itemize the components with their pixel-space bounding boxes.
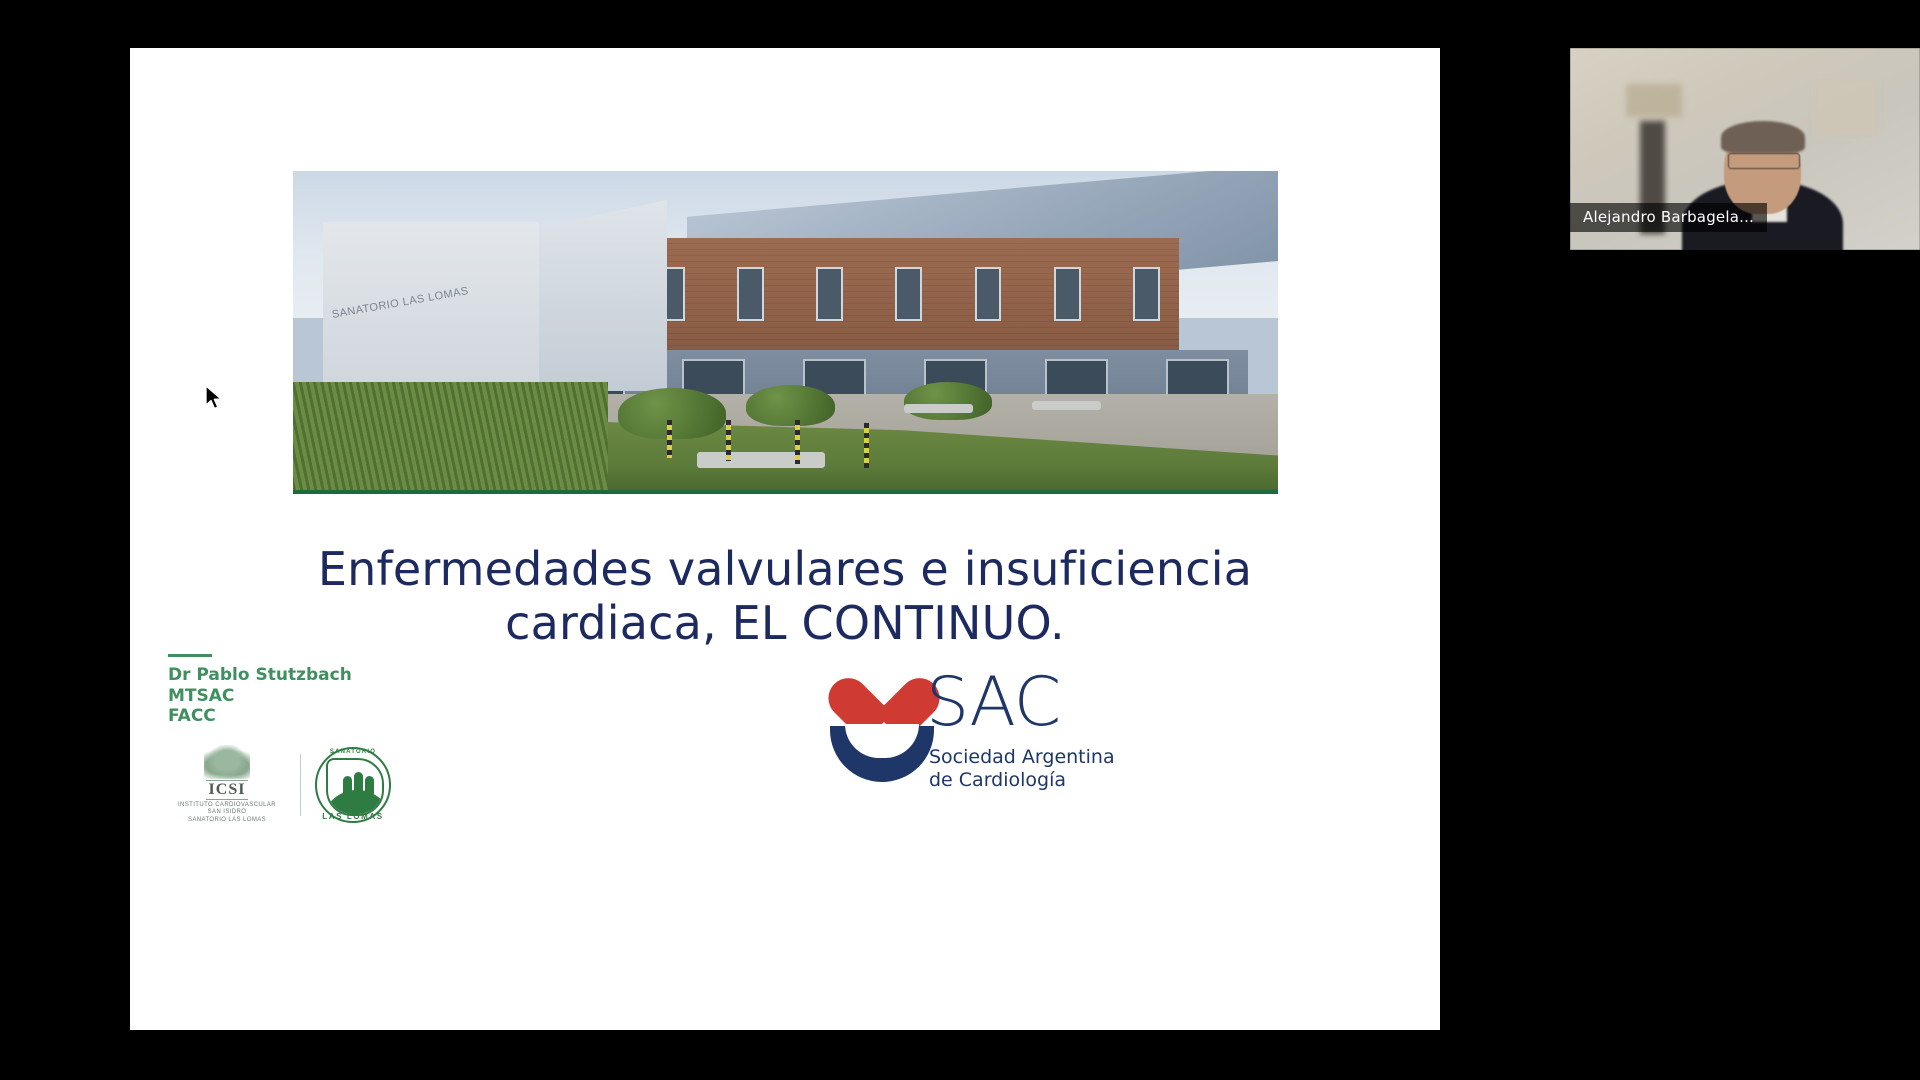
photo-hedge — [746, 385, 835, 426]
icsi-subtitle: INSTITUTO CARDIOVASCULAR SAN ISIDRO SANA… — [168, 802, 286, 825]
photo-bollard — [795, 420, 800, 465]
sac-logo: SAC Sociedad Argentina de Cardiología — [830, 672, 1130, 804]
participant-video-tile[interactable]: Alejandro Barbagela... — [1570, 48, 1920, 250]
wall-picture-frame — [1626, 84, 1682, 116]
slide-title: Enfermedades valvulares e insuficiencia … — [220, 543, 1350, 651]
presenter-credential-mtsac: MTSAC — [168, 686, 458, 707]
arrow-pointer-icon — [205, 385, 225, 413]
sac-tagline-line-2: de Cardiología — [929, 769, 1115, 792]
mouse-cursor — [205, 385, 225, 413]
glasses-icon — [1728, 153, 1800, 169]
building-photo: SANATORIO LAS LOMAS — [293, 171, 1278, 494]
icsi-subtitle-line-3: SANATORIO LAS LOMAS — [168, 817, 286, 825]
logo-divider — [300, 754, 301, 816]
icsi-subtitle-line-2: SAN ISIDRO — [168, 809, 286, 817]
sac-tagline: Sociedad Argentina de Cardiología — [929, 746, 1115, 792]
photo-hedge — [904, 382, 993, 420]
las-lomas-shield-icon — [326, 758, 384, 816]
presenter-credential-facc: FACC — [168, 706, 458, 727]
photo-bench — [697, 452, 825, 468]
sac-heart-mark — [830, 678, 934, 782]
photo-bench — [1032, 401, 1101, 411]
icsi-logo: ICSI INSTITUTO CARDIOVASCULAR SAN ISIDRO… — [168, 745, 286, 825]
presenter-name: Dr Pablo Stutzbach — [168, 665, 458, 686]
las-lomas-arc-top: SANATORIO — [315, 749, 391, 755]
institution-logos: ICSI INSTITUTO CARDIOVASCULAR SAN ISIDRO… — [168, 740, 458, 830]
wall-picture-frame — [1815, 80, 1878, 137]
sac-acronym: SAC — [926, 672, 1060, 735]
screen-share-view: SANATORIO LAS LOMAS Enfermedades valvula… — [0, 0, 1920, 1080]
icsi-subtitle-line-1: INSTITUTO CARDIOVASCULAR — [168, 802, 286, 810]
photo-bollard — [726, 420, 731, 461]
photo-bench — [904, 404, 973, 414]
photo-bollard — [864, 423, 869, 468]
slide-title-line-1: Enfermedades valvulares e insuficiencia — [220, 543, 1350, 597]
credit-rule — [168, 654, 212, 657]
photo-building-sign: SANATORIO LAS LOMAS — [331, 285, 470, 321]
sac-tagline-line-1: Sociedad Argentina — [929, 746, 1115, 769]
photo-ornamental-grass — [293, 382, 608, 490]
photo-bollard — [667, 420, 672, 458]
participant-name-label: Alejandro Barbagela... — [1570, 203, 1767, 232]
icsi-emblem-icon — [204, 745, 250, 779]
presenter-credit: Dr Pablo Stutzbach MTSAC FACC — [168, 654, 458, 727]
presentation-slide[interactable]: SANATORIO LAS LOMAS Enfermedades valvula… — [130, 48, 1440, 1030]
icsi-monogram: ICSI — [206, 780, 249, 800]
slide-title-line-2: cardiaca, EL CONTINUO. — [220, 597, 1350, 651]
las-lomas-logo: SANATORIO LAS LOMAS — [315, 747, 391, 823]
crescent-icon — [830, 726, 934, 782]
las-lomas-arc-bottom: LAS LOMAS — [315, 812, 391, 821]
participant-hair — [1721, 121, 1805, 153]
